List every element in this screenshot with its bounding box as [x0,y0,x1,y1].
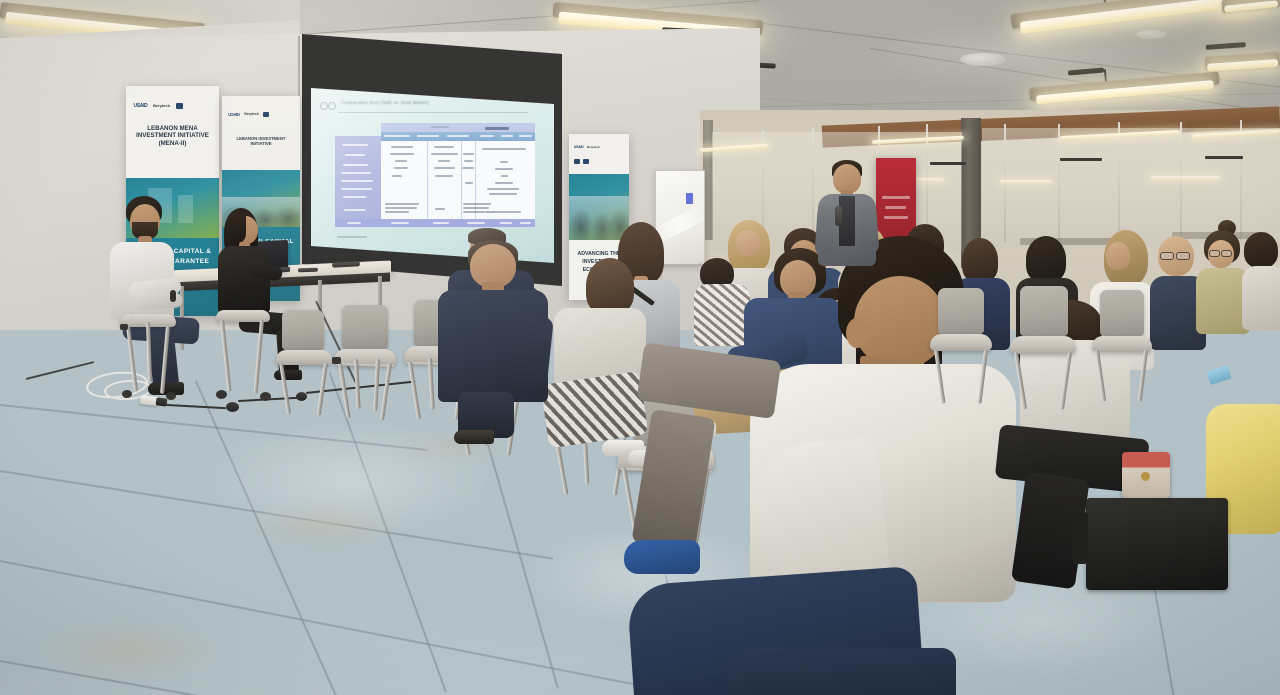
sneaker [624,540,700,574]
banner-logo-row: USAID Berytech [228,106,294,122]
chair-leg [254,320,264,394]
chair-leg [146,322,152,382]
table-cell-text [463,207,489,209]
chair-leg [408,362,421,420]
usaid-logo: USAID [133,103,147,109]
table-row-label [343,196,366,198]
microphone[interactable] [835,206,842,226]
chair-leg [1060,352,1072,410]
table-group-label [431,126,449,128]
arm [814,203,836,256]
table-column-divider [427,141,428,219]
table-footer-cell [391,222,409,224]
shoe [454,430,494,444]
partner-logo-mark [263,112,269,117]
banner-logo-row-secondary [574,156,624,168]
table-footer-cell [433,222,449,224]
handbag-clasp-icon [1141,472,1150,481]
table-cell-text [431,153,458,155]
torso [1242,266,1280,330]
hair-front [228,212,246,242]
table-column-divider [461,141,462,219]
table-row-label [341,172,371,174]
chair-caster [260,392,271,401]
chair-leg [126,326,138,392]
partner-logo-mark [583,159,589,164]
chair-link-hook [120,324,128,330]
cable-connector [226,402,239,412]
table-cell-text [489,193,517,195]
table-row-label [344,209,366,211]
table-cell-text [435,208,445,210]
chair[interactable] [216,298,276,403]
table-cell-text [495,168,513,170]
table-header-cell [417,135,439,137]
far-fixture-bar [1060,158,1102,161]
table-row-label [341,188,372,190]
usaid-logo: USAID [228,112,240,117]
banner-headline: LEBANON INVESTMENT INITIATIVE [227,137,296,147]
table-cell-text [392,175,402,177]
head [1106,242,1130,270]
glasses-icon [1209,250,1220,257]
table-cell-text [390,153,414,155]
table-cell-text [465,182,473,184]
slide-footnote [337,236,367,238]
leg-jeans [726,648,956,695]
far-fixture-bar [1205,156,1243,159]
far-ceiling-light [1000,180,1052,184]
table-row-label [343,164,368,166]
usaid-logo: USAID [574,145,584,149]
laptop-bag-strap [1072,512,1088,564]
arm [858,203,879,254]
chair-caster [216,390,227,399]
table-cell-text [464,160,473,162]
partner-logo-mark [574,159,580,164]
berytech-logo: Berytech [153,103,170,108]
table-cell-text [391,146,413,148]
chair[interactable] [930,288,992,404]
chair[interactable] [276,310,332,416]
table-header-cell [501,135,513,137]
sticky-note [686,193,693,204]
conference-room-photo: Comparative Size (SME vs. Debt Market) [0,0,1280,695]
table-footer-cell [500,222,512,224]
table-header-cell [480,135,494,137]
chair-back [282,310,324,350]
window-mullion [1240,120,1242,240]
chair-leg [160,326,169,394]
berytech-logo: Berytech [244,112,259,116]
banner-headline: LEBANON MENA INVESTMENT INITIATIVE (MENA… [132,125,214,147]
slide-divider [338,112,528,113]
table-cell-text [500,161,508,163]
slide-title: Comparative Size (SME vs. Debt Market) [341,100,429,105]
banner-logo-row: USAID Berytech [574,141,624,154]
chair-leg [380,363,392,421]
window-mullion [1118,122,1120,240]
window-mullion [1180,122,1182,240]
hair [1244,232,1278,268]
slide-table [335,123,535,227]
chair-leg [1095,350,1106,402]
hair [1026,236,1066,282]
chair-seat [1092,336,1152,352]
table-cell-text [485,211,521,213]
table-cell-text [462,167,474,169]
table-cell-text [463,153,474,155]
chair-crossbar [336,363,394,368]
table-cell-text [438,160,450,162]
chair-back [1020,286,1068,336]
chair[interactable] [334,305,396,417]
glasses-icon [1160,252,1174,260]
table-group-band [381,123,535,132]
banner-logo-row: USAID Berytech [133,95,211,116]
table-cell-text [487,188,519,190]
partner-logo-mark [176,103,183,109]
table-cell-text [495,182,513,184]
table-cell-text [463,203,491,205]
chair-leg [279,363,291,415]
ceiling-speaker-disc [960,53,1006,66]
far-fixture-bar [930,162,966,165]
table-footer-cell [467,222,485,224]
table-header-logo [485,127,509,130]
chair-seat [1010,336,1076,354]
chair-seat [930,334,992,351]
chair[interactable] [120,300,180,400]
table-cell-text [385,207,417,209]
table-cell-text [482,148,526,150]
chair-leg [977,350,987,404]
chair[interactable] [1092,290,1152,402]
glasses-icon [1176,252,1190,260]
table-header-cell [384,135,410,137]
table-row-label [342,144,368,146]
table-cell-text [435,175,453,177]
slide-logo-icon [328,102,336,110]
chair-back [342,305,388,349]
slide-logo-icon [320,102,328,110]
chair-leg [1138,350,1148,402]
chair-back [1100,290,1144,336]
table-header-cell [519,135,532,137]
chair-leg [220,320,231,392]
laptop-bag[interactable] [1086,498,1228,590]
chair-caster [166,392,176,400]
chair-link-hook [332,357,341,364]
audience-member-seated [596,330,786,590]
chair-caster [122,390,132,398]
arm [508,314,554,396]
glasses-icon [1221,250,1232,257]
standing-speaker [812,160,884,270]
table-row-label-column [335,136,381,219]
table-cell-text [434,146,454,148]
chair-leg [317,363,328,416]
ceiling-speaker-disc [1136,30,1166,39]
table-footer-cell [347,222,361,224]
window-mullion [1058,124,1060,242]
chair-leg [338,363,350,419]
table-cell-text [394,167,408,169]
chair-leg [934,350,945,404]
leg [637,342,782,419]
table-row-label [341,180,373,182]
table-row-label [345,154,365,156]
table-cell-text [434,167,455,169]
berytech-logo: Berytech [587,145,600,149]
table-header-cell [447,135,469,137]
table-cell-text [385,203,419,205]
table-cell-text [385,211,409,213]
table-cell-text [501,175,508,177]
ear [846,318,868,348]
chair-leg [1014,352,1027,410]
table-footer-cell [520,222,531,224]
audience-member [1242,232,1280,332]
leg [631,409,715,551]
chair[interactable] [1010,286,1076,410]
audience-member-seated [432,240,562,440]
chair-back [938,288,984,334]
far-ceiling-light [1150,176,1220,180]
table-cell-text [463,211,485,213]
table-cell-text [395,160,407,162]
